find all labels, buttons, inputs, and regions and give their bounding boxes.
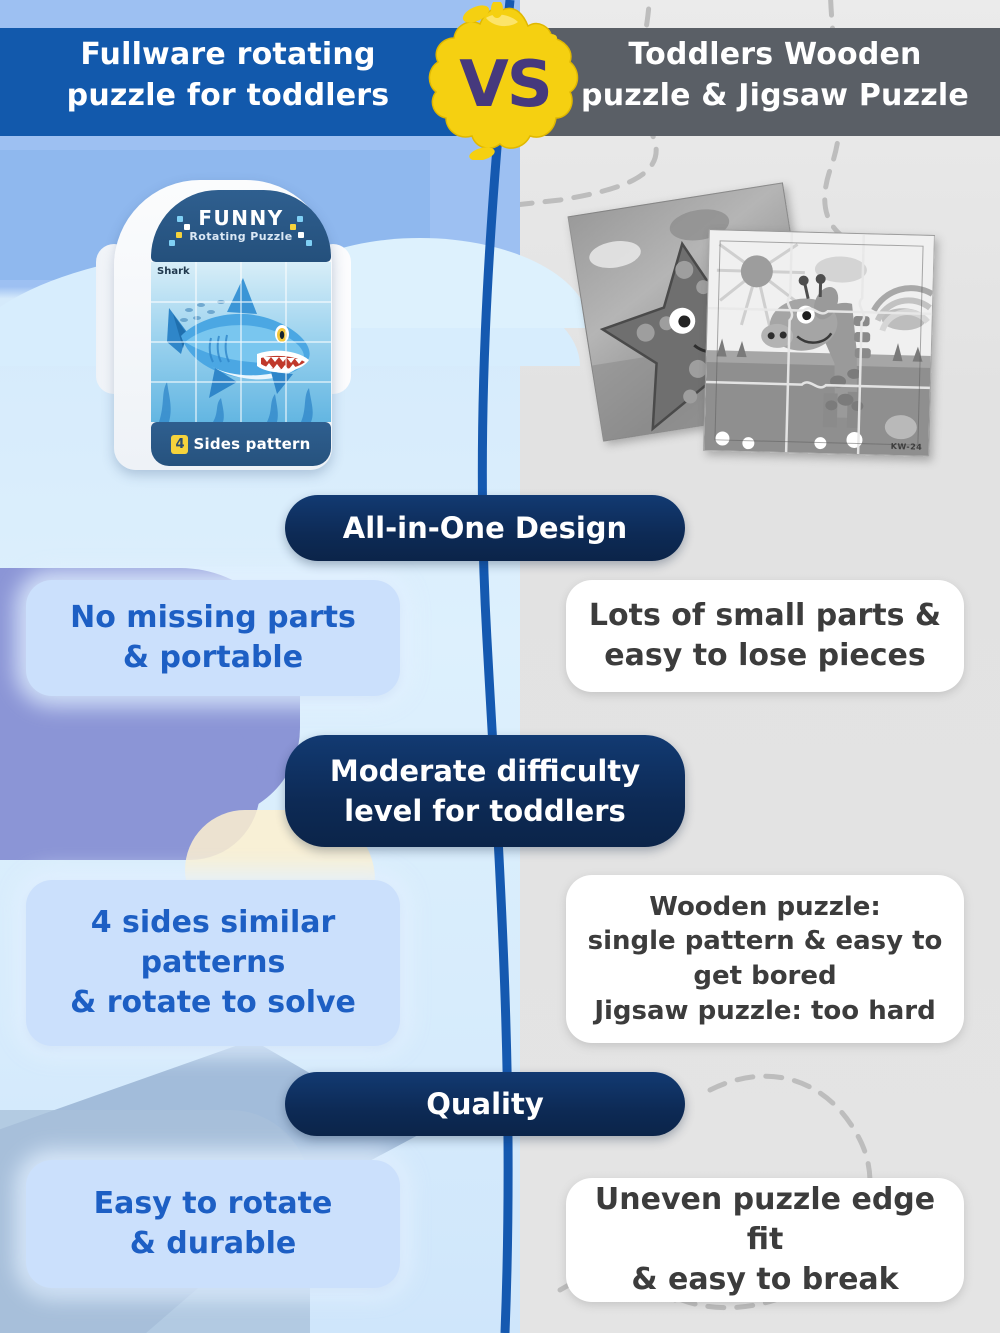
header-right-title: Toddlers Woodenpuzzle & Jigsaw Puzzle	[560, 34, 990, 117]
deco-dot	[298, 232, 304, 238]
product-sides-banner: 4 Sides pattern	[151, 422, 331, 466]
deco-dot	[290, 224, 296, 230]
banner-quality: Quality	[285, 1072, 685, 1136]
feature-text: Lots of small parts &easy to lose pieces	[573, 596, 957, 676]
wooden-puzzle-frame	[714, 240, 923, 445]
deco-dot	[306, 240, 312, 246]
puzzle-code-label: KW-24	[891, 442, 923, 452]
vs-badge: VS	[424, 2, 584, 160]
feature-card-left-2: 4 sides similarpatterns& rotate to solve	[26, 880, 400, 1046]
sides-count-badge: 4	[171, 435, 188, 454]
banner-label: All-in-One Design	[325, 508, 645, 548]
feature-text: No missing parts& portable	[54, 598, 372, 678]
vs-label: VS	[424, 2, 584, 160]
feature-card-right-2: Wooden puzzle:single pattern & easy toge…	[566, 875, 964, 1043]
header-left-title: Fullware rotatingpuzzle for toddlers	[18, 34, 438, 117]
deco-dot	[169, 240, 175, 246]
deco-dot	[176, 232, 182, 238]
feature-card-right-1: Lots of small parts &easy to lose pieces	[566, 580, 964, 692]
feature-text: Uneven puzzle edge fit& easy to break	[566, 1180, 964, 1301]
wooden-puzzle-giraffe: KW-24	[703, 229, 935, 457]
banner-moderate-difficulty: Moderate difficultylevel for toddlers	[285, 735, 685, 847]
deco-dot	[177, 216, 183, 222]
sides-pattern-label: Sides pattern	[193, 435, 310, 453]
puzzle-grid-lines	[151, 262, 331, 422]
feature-text: 4 sides similarpatterns& rotate to solve	[54, 903, 372, 1024]
deco-dot	[184, 224, 190, 230]
feature-text: Wooden puzzle:single pattern & easy toge…	[572, 890, 959, 1028]
banner-all-in-one-design: All-in-One Design	[285, 495, 685, 561]
feature-card-left-1: No missing parts& portable	[26, 580, 400, 696]
wooden-puzzles-image: KW-24	[566, 190, 966, 470]
banner-label: Moderate difficultylevel for toddlers	[312, 751, 658, 831]
feature-card-left-3: Easy to rotate& durable	[26, 1160, 400, 1288]
rotating-puzzle-product-image: FUNNY Rotating Puzzle Shark	[96, 176, 351, 476]
puzzle-tile-grid: Shark	[151, 262, 331, 422]
product-header-panel: FUNNY Rotating Puzzle	[151, 190, 331, 262]
banner-label: Quality	[408, 1084, 562, 1124]
comparison-infographic: Fullware rotatingpuzzle for toddlers Tod…	[0, 0, 1000, 1333]
deco-dot	[297, 216, 303, 222]
feature-text: Easy to rotate& durable	[78, 1184, 349, 1264]
feature-card-right-3: Uneven puzzle edge fit& easy to break	[566, 1178, 964, 1302]
header-bar: Fullware rotatingpuzzle for toddlers Tod…	[0, 0, 1000, 150]
product-body: FUNNY Rotating Puzzle Shark	[114, 180, 332, 470]
